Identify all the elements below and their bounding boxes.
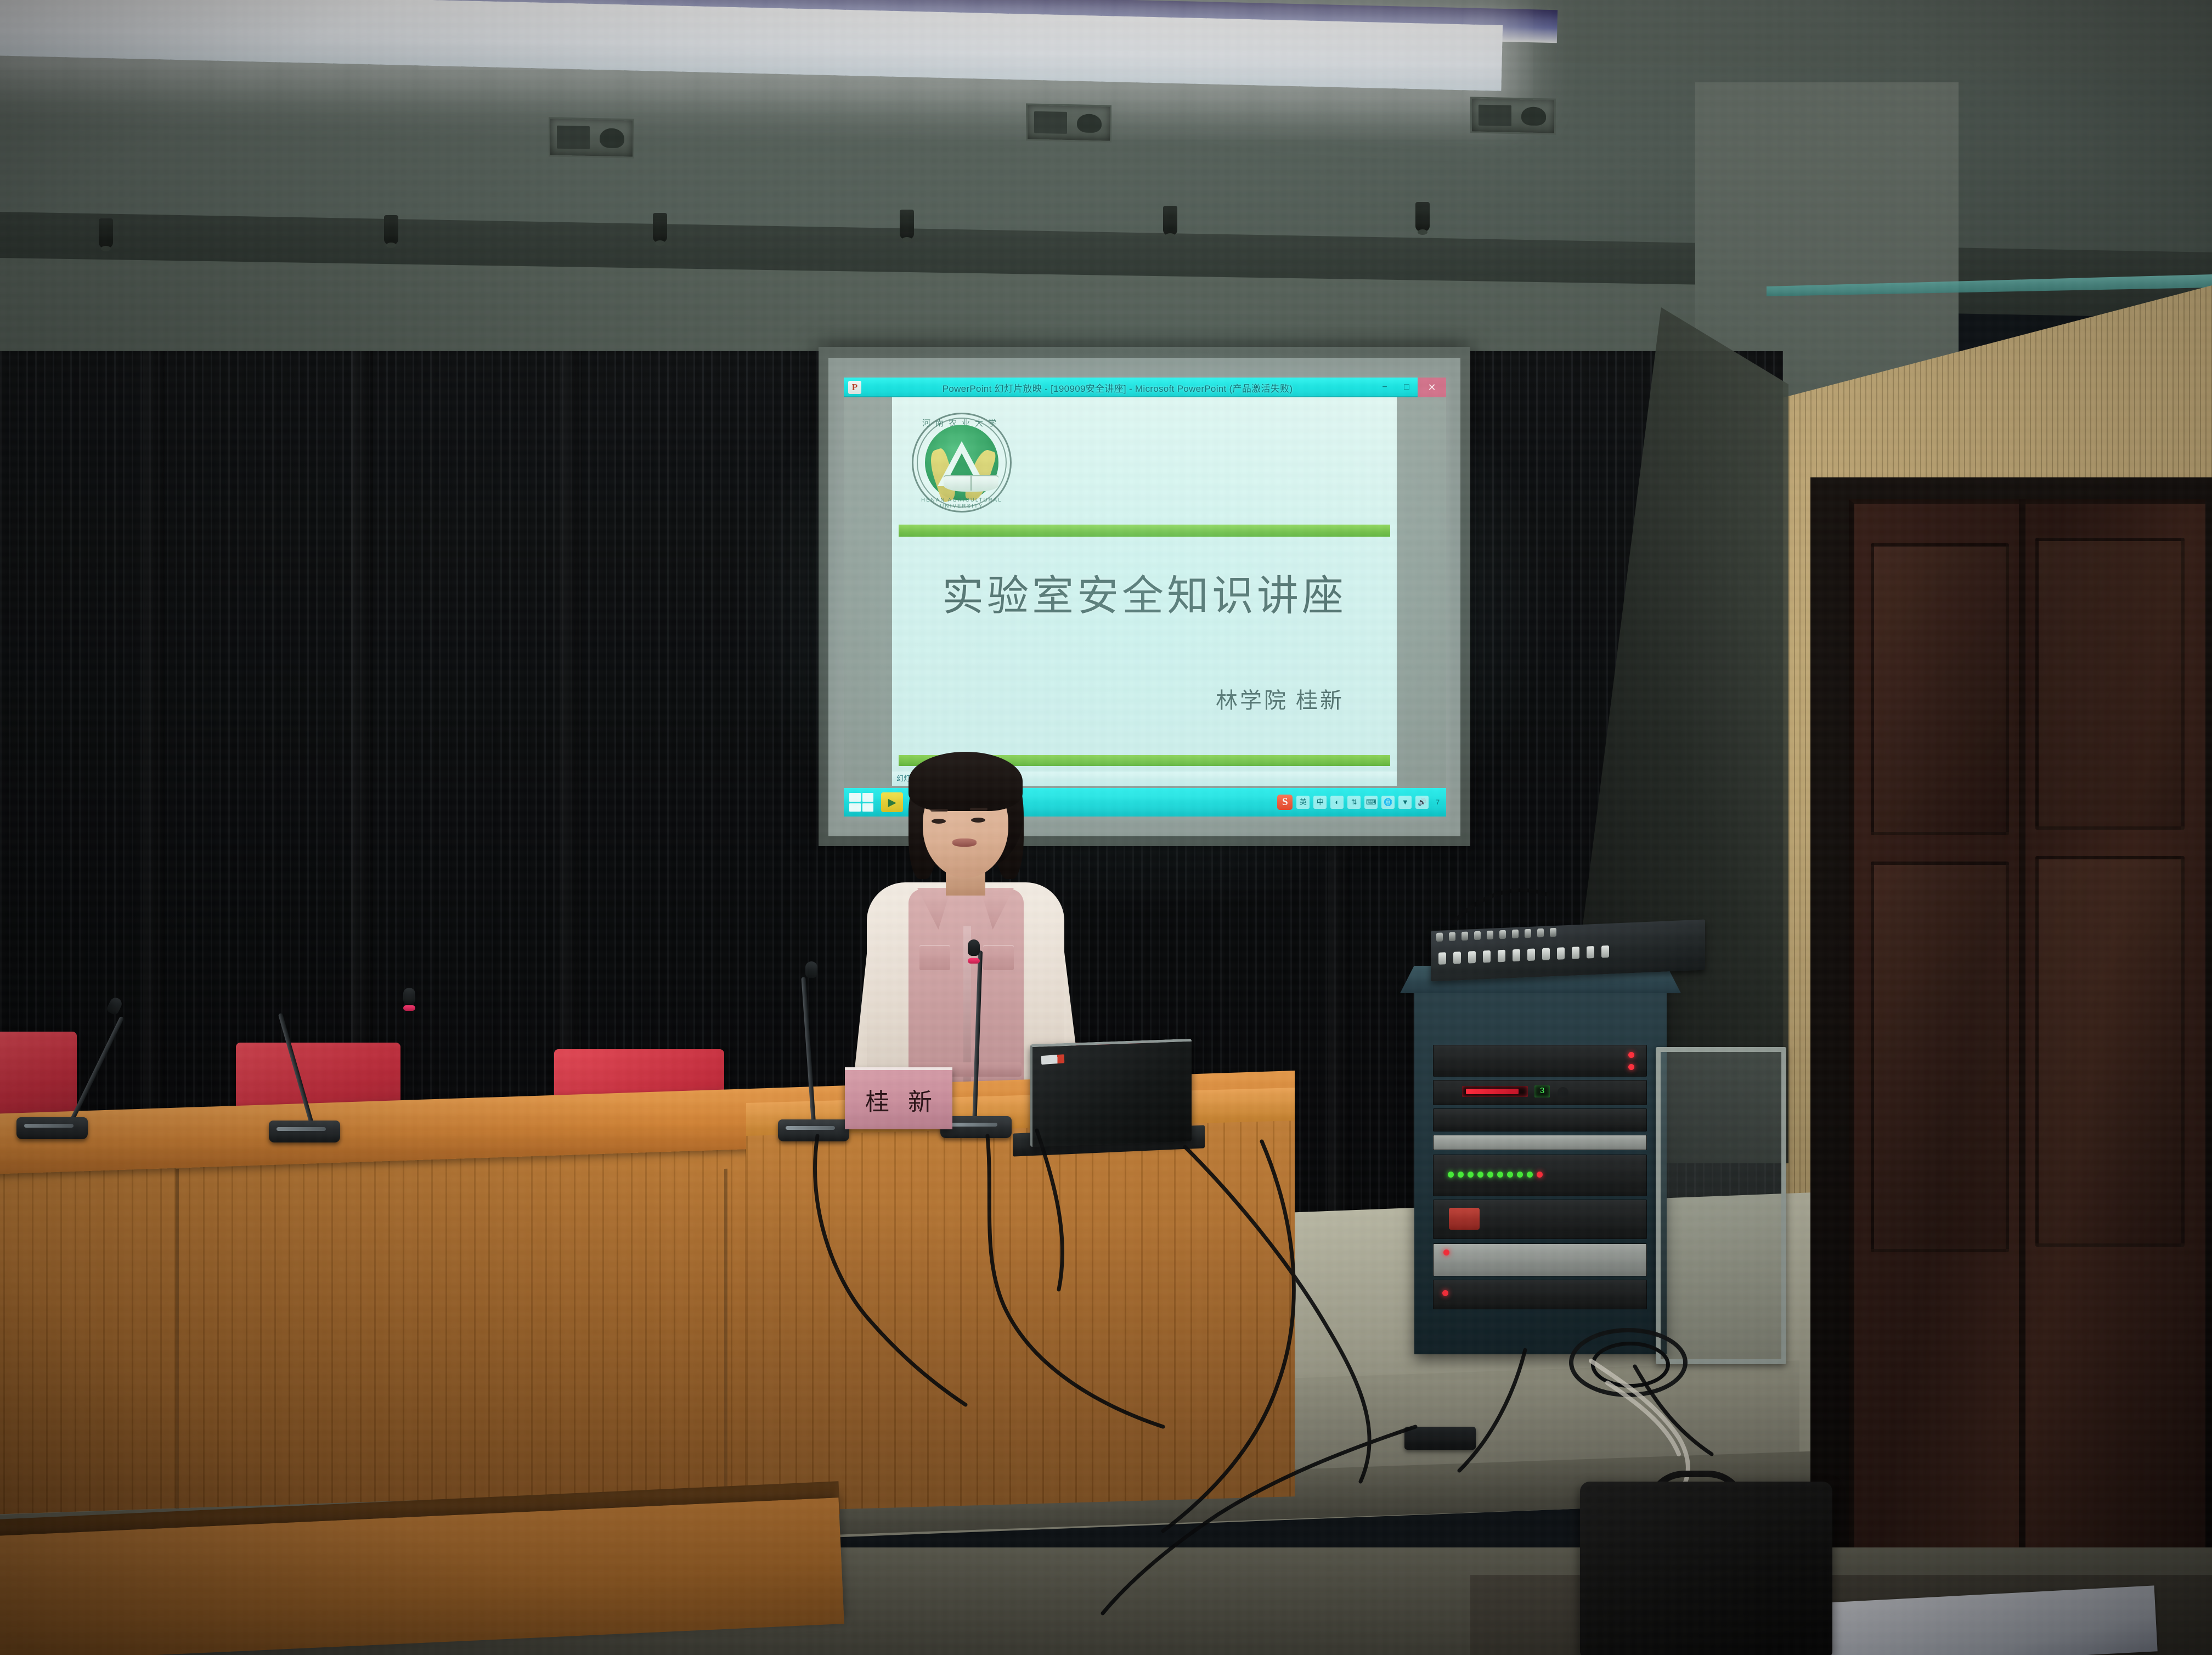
ceiling-spotlight-icon <box>1163 206 1177 235</box>
mixer-fader-row[interactable] <box>1438 945 1609 965</box>
ime-toolbox-icon[interactable]: 🌐 <box>1381 796 1395 809</box>
ime-language-icon[interactable]: 英 <box>1296 796 1310 809</box>
minimize-button[interactable]: − <box>1374 378 1396 397</box>
ime-softkeyboard-icon[interactable]: ⌨ <box>1364 796 1378 809</box>
presenter-pocket <box>919 945 950 970</box>
presenter-mouth <box>952 838 977 847</box>
podium-front <box>746 1101 1295 1512</box>
vu-led-icon <box>1477 1172 1483 1178</box>
presenter-fringe <box>909 752 1023 811</box>
vu-led-icon <box>1468 1172 1474 1178</box>
rack-unit-amplifier[interactable] <box>1433 1045 1647 1077</box>
ceiling-spotlight-icon <box>653 213 667 243</box>
door-panel <box>2035 856 2185 1247</box>
ime-halfwidth-icon[interactable]: ◐ <box>1330 796 1344 809</box>
presenter-pocket <box>983 945 1014 970</box>
vu-led-icon <box>1507 1172 1513 1178</box>
system-tray[interactable]: S 英 中 ◐ ⇅ ⌨ 🌐 ▼ 🔊 7 <box>1277 795 1446 810</box>
table-panel-seam <box>724 1169 727 1509</box>
slide-canvas[interactable]: 河南农业大学 HENAN AGRICULTURAL UNIVERSITY 实验室… <box>892 397 1397 786</box>
ime-punctuation-icon[interactable]: ⇅ <box>1347 796 1361 809</box>
rack-glass-door[interactable] <box>1656 1047 1786 1364</box>
microphone-indicator-ring <box>403 1005 415 1011</box>
presenter-eyebrow <box>930 809 948 812</box>
microphone-base[interactable] <box>778 1119 849 1141</box>
name-plate-given: 新 <box>908 1082 932 1117</box>
slide-accent-bar-top <box>899 525 1390 537</box>
microphone-indicator-ring <box>968 958 980 964</box>
powerpoint-app-icon: P <box>848 381 861 394</box>
microphone-capsule <box>805 961 817 978</box>
vu-led-icon <box>1517 1172 1523 1178</box>
rack-unit-vu-meter[interactable] <box>1433 1155 1647 1196</box>
name-plate: 桂 新 <box>845 1067 952 1129</box>
microphone-base[interactable] <box>269 1121 340 1142</box>
door-center-seam <box>2019 499 2025 1597</box>
ceiling-spotlight-icon <box>99 218 113 248</box>
taskbar-clock[interactable]: 7 <box>1436 798 1440 806</box>
presenter-eye <box>971 818 985 823</box>
volume-icon[interactable]: 🔊 <box>1415 796 1429 809</box>
ceiling-spotlight-icon <box>384 215 398 245</box>
vu-led-icon <box>1487 1172 1493 1178</box>
rack-unit-player[interactable] <box>1433 1108 1647 1132</box>
rack-unit-dvd-player[interactable] <box>1433 1200 1647 1239</box>
laptop[interactable] <box>1030 1039 1192 1147</box>
presenter-eyebrow <box>970 808 988 810</box>
slide-presenter: 林学院 桂新 <box>1216 683 1344 714</box>
sogou-ime-icon[interactable]: S <box>1277 795 1293 810</box>
mixer-knob-row[interactable] <box>1436 928 1556 942</box>
microphone-base[interactable] <box>16 1117 88 1139</box>
presenter-eye <box>932 819 946 824</box>
laptop-bag[interactable] <box>1580 1482 1832 1655</box>
power-led-icon <box>1628 1052 1634 1058</box>
university-logo-icon: 河南农业大学 HENAN AGRICULTURAL UNIVERSITY <box>912 413 1012 513</box>
power-led-icon <box>1443 1249 1449 1256</box>
vu-led-icon <box>1527 1172 1533 1178</box>
rack-unit-power-sequencer[interactable] <box>1433 1280 1647 1309</box>
close-button[interactable]: ✕ <box>1418 378 1446 397</box>
indicator-block-icon <box>1449 1208 1480 1230</box>
vu-led-icon <box>1448 1172 1454 1178</box>
vu-led-icon <box>1497 1172 1503 1178</box>
ime-mode-icon[interactable]: 中 <box>1313 796 1327 809</box>
rack-unit-power-amplifier[interactable] <box>1433 1243 1647 1276</box>
logo-english-name: HENAN AGRICULTURAL UNIVERSITY <box>912 497 1012 509</box>
ceiling-vent-icon <box>1026 103 1111 142</box>
window-controls[interactable]: − □ ✕ <box>1374 378 1446 397</box>
cable-coil <box>1591 1342 1670 1388</box>
status-led-icon <box>1628 1064 1634 1070</box>
table-panel-seam <box>176 1169 179 1509</box>
vu-led-icon <box>1458 1172 1464 1178</box>
rack-unit-processor[interactable]: 3 <box>1433 1080 1647 1105</box>
powerpoint-titlebar[interactable]: P PowerPoint 幻灯片放映 - [190909安全讲座] - Micr… <box>844 378 1446 397</box>
ceiling-spotlight-icon <box>900 210 914 239</box>
microphone-capsule <box>403 988 415 1004</box>
ceiling-spotlight-icon <box>1415 202 1430 232</box>
channel-number-display: 3 <box>1534 1085 1550 1097</box>
power-adapter <box>1404 1427 1476 1450</box>
ceiling-vent-icon <box>549 117 634 158</box>
power-led-icon <box>1442 1290 1448 1296</box>
tray-overflow-icon[interactable]: ▼ <box>1398 796 1412 809</box>
slide-title: 实验室安全知识讲座 <box>892 562 1397 622</box>
rack-unit-blank-panel <box>1433 1135 1647 1150</box>
jog-knob-icon[interactable] <box>1558 1087 1568 1098</box>
laptop-brand-logo-icon <box>1041 1054 1065 1065</box>
vfd-display <box>1462 1086 1528 1097</box>
door-panel <box>1871 862 2009 1252</box>
photo-scene: P PowerPoint 幻灯片放映 - [190909安全讲座] - Micr… <box>0 0 2212 1655</box>
name-plate-surname: 桂 <box>865 1082 889 1117</box>
powerpoint-window-title: PowerPoint 幻灯片放映 - [190909安全讲座] - Micros… <box>861 381 1374 395</box>
vu-peak-led-icon <box>1537 1172 1543 1178</box>
powerpoint-window[interactable]: P PowerPoint 幻灯片放映 - [190909安全讲座] - Micr… <box>844 378 1446 817</box>
ceiling-speaker-icon <box>1470 97 1556 134</box>
door-panel <box>1871 543 2009 835</box>
maximize-button[interactable]: □ <box>1396 378 1418 397</box>
door-panel <box>2035 538 2185 830</box>
microphone-capsule <box>968 939 980 956</box>
